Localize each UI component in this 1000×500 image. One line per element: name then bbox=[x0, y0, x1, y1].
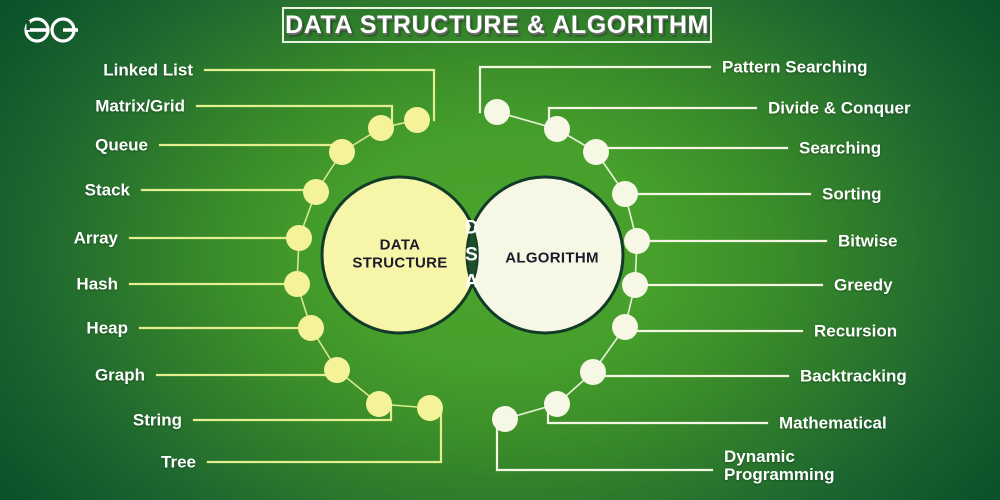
node-dot[interactable] bbox=[298, 315, 324, 341]
node-dot[interactable] bbox=[368, 115, 394, 141]
topic-label-text: Bitwise bbox=[838, 231, 898, 250]
node-dot[interactable] bbox=[417, 395, 443, 421]
dsa-letter: S bbox=[465, 243, 480, 270]
node-dot[interactable] bbox=[286, 225, 312, 251]
node-dot[interactable] bbox=[404, 107, 430, 133]
topic-label-bitwise[interactable]: Bitwise bbox=[838, 231, 898, 250]
topic-label-text: Divide & Conquer bbox=[768, 98, 911, 117]
topic-label-pattern-searching[interactable]: Pattern Searching bbox=[722, 57, 868, 76]
node-dot[interactable] bbox=[329, 139, 355, 165]
node-dot[interactable] bbox=[624, 228, 650, 254]
topic-label-matrix-grid[interactable]: Matrix/Grid bbox=[95, 96, 185, 115]
algorithm-label: ALGORITHM bbox=[505, 250, 599, 267]
topic-label-text: Recursion bbox=[814, 321, 897, 340]
node-dot[interactable] bbox=[303, 179, 329, 205]
connector-line bbox=[497, 419, 712, 470]
node-dot[interactable] bbox=[583, 139, 609, 165]
connector-line bbox=[194, 404, 391, 420]
topic-label-text: Array bbox=[74, 228, 118, 247]
topic-label-text: Matrix/Grid bbox=[95, 96, 185, 115]
topic-label-queue[interactable]: Queue bbox=[95, 135, 148, 154]
dsa-letter: A bbox=[465, 269, 480, 296]
topic-label-text: Mathematical bbox=[779, 413, 887, 432]
connector-line bbox=[596, 148, 787, 152]
connector-line bbox=[197, 106, 392, 128]
topic-label-string[interactable]: String bbox=[133, 410, 182, 429]
dsa-letter: D bbox=[465, 216, 480, 243]
topic-label-text: String bbox=[133, 410, 182, 429]
node-dot[interactable] bbox=[612, 181, 638, 207]
topic-label-tree[interactable]: Tree bbox=[161, 452, 196, 471]
topic-label-mathematical[interactable]: Mathematical bbox=[779, 413, 887, 432]
node-dot[interactable] bbox=[622, 272, 648, 298]
topic-label-text: Searching bbox=[799, 138, 881, 157]
topic-label-linked-list[interactable]: Linked List bbox=[103, 60, 193, 79]
topic-label-text: Hash bbox=[76, 274, 118, 293]
node-dot[interactable] bbox=[612, 314, 638, 340]
connector-line bbox=[549, 108, 756, 129]
topic-label-text: Queue bbox=[95, 135, 148, 154]
node-dot[interactable] bbox=[366, 391, 392, 417]
node-dot[interactable] bbox=[492, 406, 518, 432]
topic-label-text: Tree bbox=[161, 452, 196, 471]
connector-line bbox=[625, 327, 802, 331]
topic-label-dynamic[interactable]: DynamicProgramming bbox=[724, 448, 835, 484]
ds-label-line1: DATA bbox=[352, 237, 447, 255]
connector-line bbox=[548, 404, 767, 423]
topic-label-text: Stack bbox=[85, 180, 130, 199]
topic-label-backtracking[interactable]: Backtracking bbox=[800, 366, 907, 385]
topic-label-stack[interactable]: Stack bbox=[85, 180, 130, 199]
node-dot[interactable] bbox=[544, 391, 570, 417]
connector-line bbox=[160, 145, 342, 152]
connector-line bbox=[142, 190, 316, 192]
node-dot[interactable] bbox=[284, 271, 310, 297]
connector-line bbox=[480, 67, 710, 112]
topic-label-array[interactable]: Array bbox=[74, 228, 118, 247]
topic-label-heap[interactable]: Heap bbox=[86, 318, 128, 337]
topic-label-graph[interactable]: Graph bbox=[95, 365, 145, 384]
topic-label-searching[interactable]: Searching bbox=[799, 138, 881, 157]
topic-label-hash[interactable]: Hash bbox=[76, 274, 118, 293]
topic-label-text: Graph bbox=[95, 365, 145, 384]
connector-line bbox=[157, 370, 337, 375]
node-dot[interactable] bbox=[324, 357, 350, 383]
connector-line bbox=[593, 372, 788, 376]
topic-label-text: Linked List bbox=[103, 60, 193, 79]
dsa-intersection-label: DSA bbox=[465, 216, 480, 297]
connector-line bbox=[208, 408, 441, 462]
topic-label-text-2: Programming bbox=[724, 466, 835, 484]
topic-label-text: Pattern Searching bbox=[722, 57, 868, 76]
node-dot[interactable] bbox=[484, 99, 510, 125]
topic-label-recursion[interactable]: Recursion bbox=[814, 321, 897, 340]
connector-line bbox=[205, 70, 434, 120]
node-dot[interactable] bbox=[580, 359, 606, 385]
topic-label-text: Heap bbox=[86, 318, 128, 337]
topic-label-divide-conquer[interactable]: Divide & Conquer bbox=[768, 98, 911, 117]
infographic-canvas: DATA STRUCTURE & ALGORITHM DATA STRUCTUR… bbox=[0, 0, 1000, 500]
data-structure-label: DATA STRUCTURE bbox=[352, 237, 447, 274]
ds-label-line2: STRUCTURE bbox=[352, 255, 447, 273]
topic-label-text: Sorting bbox=[822, 184, 882, 203]
topic-label-text: Greedy bbox=[834, 275, 893, 294]
topic-label-greedy[interactable]: Greedy bbox=[834, 275, 893, 294]
topic-label-text: Dynamic bbox=[724, 448, 835, 466]
topic-label-text: Backtracking bbox=[800, 366, 907, 385]
node-dot[interactable] bbox=[544, 116, 570, 142]
topic-label-sorting[interactable]: Sorting bbox=[822, 184, 882, 203]
